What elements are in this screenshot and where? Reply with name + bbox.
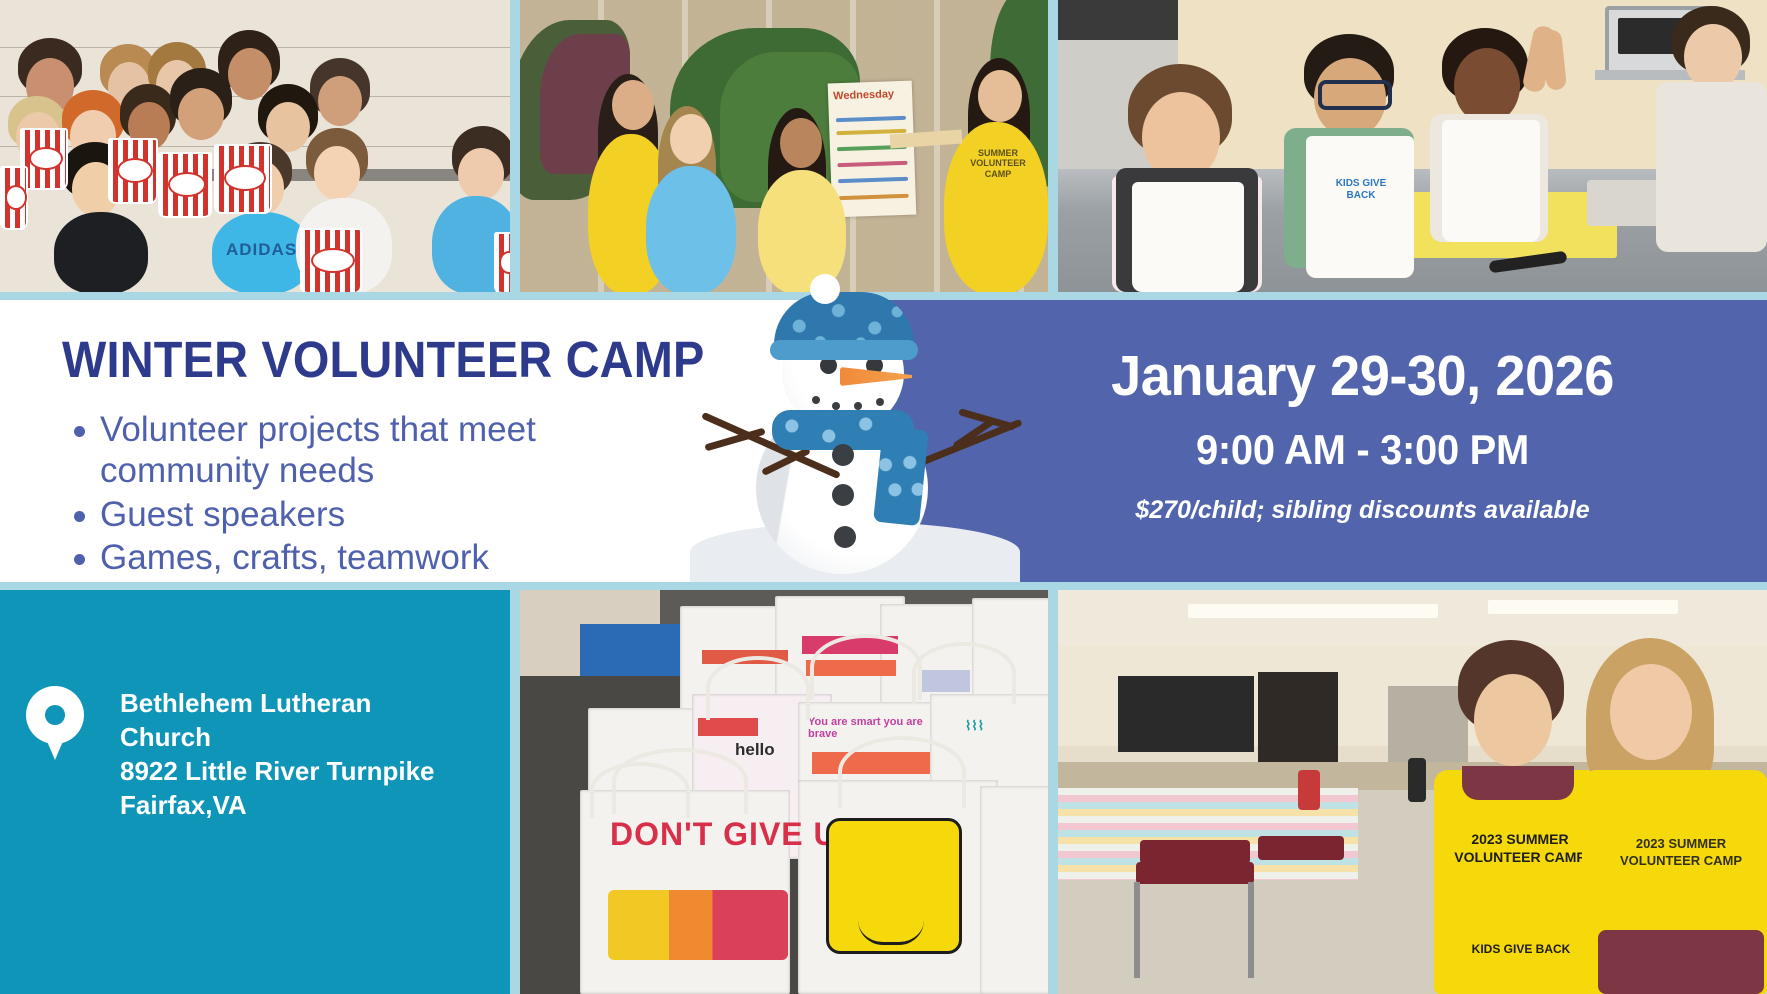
camp-info-panel: WINTER VOLUNTEER CAMP Volunteer projects…: [0, 300, 880, 582]
photo-shirt-tagline: KIDS GIVE BACK: [1458, 942, 1584, 956]
list-item: Volunteer projects that meet community n…: [62, 409, 712, 492]
photo-shirt-text: 2023 SUMMER VOLUNTEER CAMP: [1450, 830, 1590, 866]
date-time-panel: January 29-30, 2026 9:00 AM - 3:00 PM $2…: [888, 300, 1767, 582]
bag-text-affirmation: You are smart you are brave: [808, 716, 948, 740]
photo-bottom-middle: ⌇⌇⌇ hello You are smart you are brave DO…: [520, 590, 1048, 994]
event-date: January 29-30, 2026: [978, 348, 1747, 405]
location-panel: Bethlehem Lutheran Church 8922 Little Ri…: [0, 590, 510, 994]
photo-top-middle: Wednesday SUMMER VOLUNTEER CAMP: [520, 0, 1048, 292]
venue-name-line2: Church: [120, 720, 435, 754]
venue-street: 8922 Little River Turnpike: [120, 754, 435, 788]
bag-text-dont-give-up: DON'T GIVE UP: [610, 816, 860, 853]
bag-scribble: ⌇⌇⌇: [965, 718, 1048, 746]
page-title: WINTER VOLUNTEER CAMP: [62, 334, 815, 385]
poster-canvas: ADIDAS Wedn: [0, 0, 1767, 994]
feature-list: Volunteer projects that meet community n…: [62, 409, 712, 578]
photo-top-right: KIDS GIVE BACK: [1058, 0, 1767, 292]
event-time: 9:00 AM - 3:00 PM: [978, 429, 1747, 471]
location-pin-icon: [26, 686, 84, 762]
schedule-poster: Wednesday: [828, 81, 917, 218]
photo-apron-text: KIDS GIVE BACK: [1326, 178, 1396, 202]
photo-top-left: ADIDAS: [0, 0, 510, 292]
glasses-icon: [1318, 80, 1392, 110]
photo-bottom-right: 2023 SUMMER VOLUNTEER CAMP KIDS GIVE BAC…: [1058, 590, 1767, 994]
venue-city-state: Fairfax,VA: [120, 788, 435, 822]
photo-shirt-text: ADIDAS: [226, 240, 302, 262]
list-item: Games, crafts, teamwork: [62, 537, 712, 578]
photo-shirt-text: SUMMER VOLUNTEER CAMP: [958, 148, 1038, 179]
list-item: Guest speakers: [62, 494, 712, 535]
photo-leader-shirt-text: 2023 SUMMER VOLUNTEER CAMP: [1606, 836, 1756, 870]
address-block: Bethlehem Lutheran Church 8922 Little Ri…: [120, 686, 435, 822]
venue-name-line1: Bethlehem Lutheran: [120, 686, 435, 720]
bag-text-hello: hello: [735, 740, 775, 760]
event-price: $270/child; sibling discounts available: [958, 498, 1767, 523]
